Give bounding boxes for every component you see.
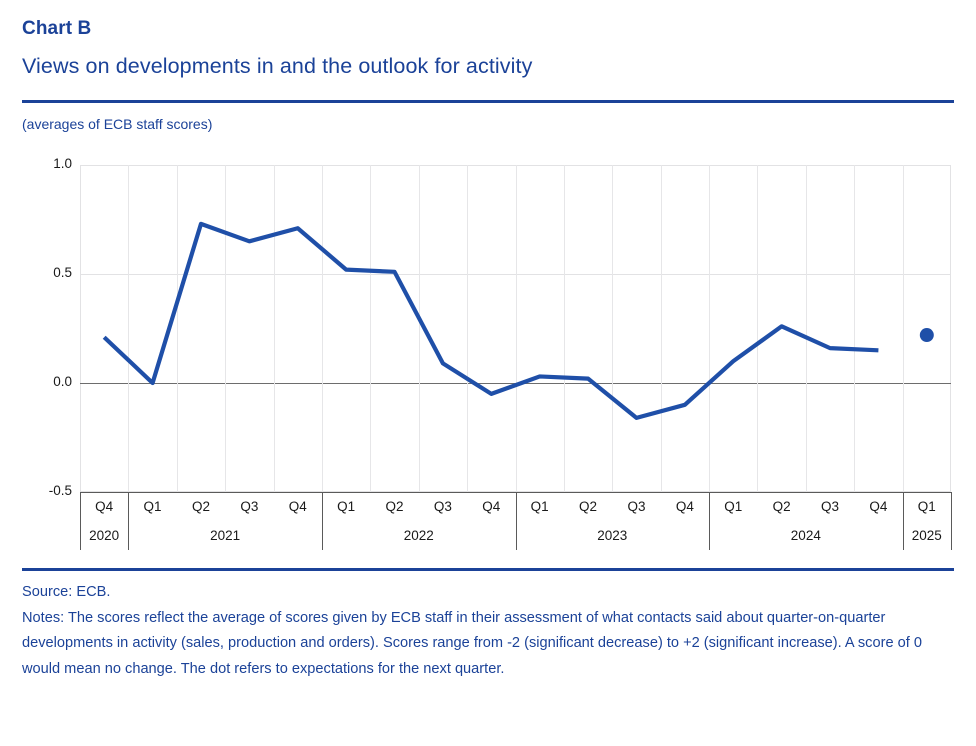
- x-axis-quarter-label: Q1: [322, 492, 370, 521]
- year-group-separator: [80, 492, 81, 550]
- x-axis-quarter-label: Q3: [806, 492, 854, 521]
- x-axis-quarter-label: Q4: [854, 492, 902, 521]
- x-axis-quarter-label: Q2: [177, 492, 225, 521]
- year-group-separator: [322, 492, 323, 550]
- x-axis-quarter-label: Q4: [274, 492, 322, 521]
- footnotes: Source: ECB. Notes: The scores reflect t…: [22, 580, 958, 682]
- x-axis-quarter-label: Q3: [225, 492, 273, 521]
- chart-figure: Chart B Views on developments in and the…: [0, 0, 976, 746]
- x-axis-quarter-label: Q3: [419, 492, 467, 521]
- footer-divider: [22, 568, 954, 571]
- x-axis-year-label: 2021: [128, 521, 322, 550]
- x-axis-quarter-label: Q2: [564, 492, 612, 521]
- x-axis-quarter-label: Q4: [80, 492, 128, 521]
- x-axis-year-label: 2024: [709, 521, 903, 550]
- notes-text: Notes: The scores reflect the average of…: [22, 606, 958, 683]
- x-axis-year-label: 2023: [516, 521, 710, 550]
- x-axis-year-label: 2020: [80, 521, 128, 550]
- x-axis-quarter-label: Q4: [467, 492, 515, 521]
- year-group-separator: [951, 492, 952, 550]
- x-axis-quarter-label: Q3: [612, 492, 660, 521]
- x-axis-quarter-label: Q2: [757, 492, 805, 521]
- plot-area: 1.00.50.0-0.5: [0, 0, 976, 560]
- expectation-dot: [920, 328, 934, 342]
- x-axis-quarter-label: Q4: [661, 492, 709, 521]
- year-group-separator: [709, 492, 710, 550]
- x-axis-quarter-label: Q1: [903, 492, 951, 521]
- series-line: [104, 224, 878, 418]
- x-axis-quarter-label: Q1: [709, 492, 757, 521]
- year-group-separator: [903, 492, 904, 550]
- source-text: Source: ECB.: [22, 580, 958, 606]
- x-axis-quarter-label: Q2: [370, 492, 418, 521]
- series-layer: [0, 0, 976, 560]
- x-axis-year-label: 2022: [322, 521, 516, 550]
- year-group-separator: [516, 492, 517, 550]
- year-group-separator: [128, 492, 129, 550]
- x-axis-year-label: 2025: [903, 521, 951, 550]
- x-axis-quarter-label: Q1: [128, 492, 176, 521]
- x-axis-quarter-label: Q1: [516, 492, 564, 521]
